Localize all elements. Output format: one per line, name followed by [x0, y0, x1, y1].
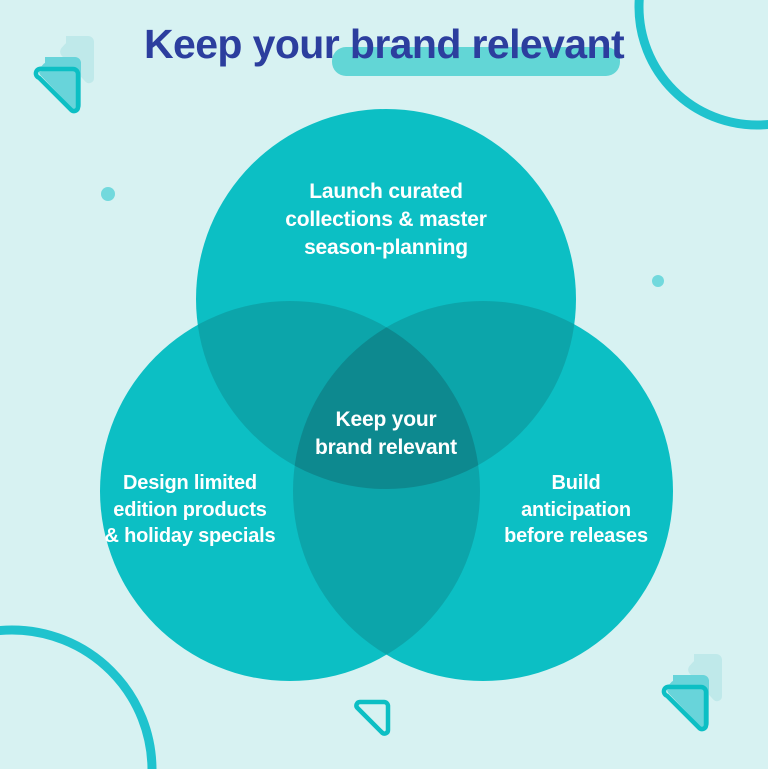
venn-diagram: [0, 0, 768, 769]
infographic-canvas: Keep your brand relevant Launch curated …: [0, 0, 768, 769]
